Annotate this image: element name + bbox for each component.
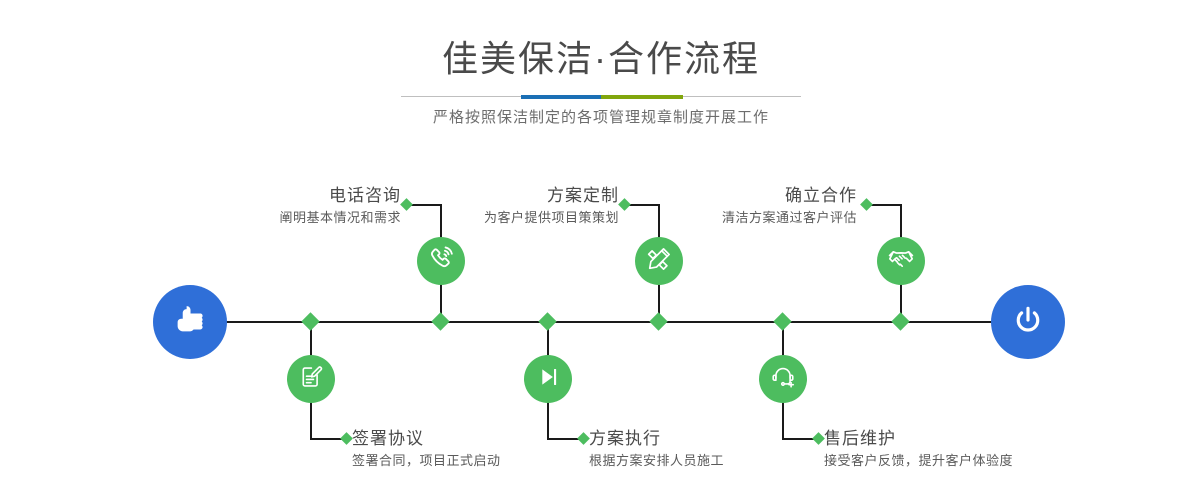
timeline-start-node (153, 285, 227, 359)
step-label-2: 签署协议 签署合同，项目正式启动 (352, 428, 582, 472)
step-label-4: 方案执行 根据方案安排人员施工 (589, 428, 819, 472)
timeline-marker-4 (538, 312, 556, 330)
divider-segment-blue (521, 95, 601, 99)
process-flow-infographic: 佳美保洁·合作流程 严格按照保洁制定的各项管理规章制度开展工作 (0, 0, 1202, 502)
timeline-marker-3 (649, 312, 667, 330)
timeline-marker-6 (773, 312, 791, 330)
step-label-5: 确立合作 清洁方案通过客户评估 (632, 185, 857, 229)
step-icon-1 (417, 237, 465, 285)
connector-endpoint-5 (860, 198, 873, 211)
step-label-3: 方案定制 为客户提供项目策策划 (394, 185, 619, 229)
connector-endpoint-3 (618, 198, 631, 211)
step-label-6: 售后维护 接受客户反馈，提升客户体验度 (824, 428, 1069, 472)
divider-segment-green (601, 95, 683, 99)
pointing-hand-icon (172, 302, 208, 343)
power-icon (1010, 302, 1046, 343)
step-icon-6 (759, 355, 807, 403)
timeline-end-node (991, 285, 1065, 359)
step-desc-6: 接受客户反馈，提升客户体验度 (824, 450, 1069, 472)
step-title-6: 售后维护 (824, 428, 1069, 450)
title-divider (401, 95, 801, 99)
pencil-ruler-icon (646, 245, 673, 277)
play-skip-icon (535, 364, 561, 395)
phone-call-icon (427, 245, 455, 278)
step-icon-2 (287, 355, 335, 403)
handshake-icon (887, 245, 915, 278)
step-icon-5 (877, 237, 925, 285)
timeline-marker-2 (301, 312, 319, 330)
customer-service-add-icon (770, 363, 797, 395)
page-title: 佳美保洁·合作流程 (0, 36, 1202, 82)
step-title-5: 确立合作 (632, 185, 857, 207)
step-icon-3 (635, 237, 683, 285)
step-title-2: 签署协议 (352, 428, 582, 450)
page-subtitle: 严格按照保洁制定的各项管理规章制度开展工作 (0, 105, 1202, 131)
step-desc-3: 为客户提供项目策策划 (394, 207, 619, 229)
step-label-1: 电话咨询 阐明基本情况和需求 (176, 185, 401, 229)
step-icon-4 (524, 355, 572, 403)
step-desc-2: 签署合同，项目正式启动 (352, 450, 582, 472)
step-desc-1: 阐明基本情况和需求 (176, 207, 401, 229)
timeline-marker-5 (891, 312, 909, 330)
timeline-marker-1 (431, 312, 449, 330)
step-desc-4: 根据方案安排人员施工 (589, 450, 819, 472)
step-title-4: 方案执行 (589, 428, 819, 450)
document-edit-icon (298, 364, 324, 395)
step-title-1: 电话咨询 (176, 185, 401, 207)
step-desc-5: 清洁方案通过客户评估 (632, 207, 857, 229)
step-title-3: 方案定制 (394, 185, 619, 207)
connector-endpoint-2 (340, 432, 353, 445)
